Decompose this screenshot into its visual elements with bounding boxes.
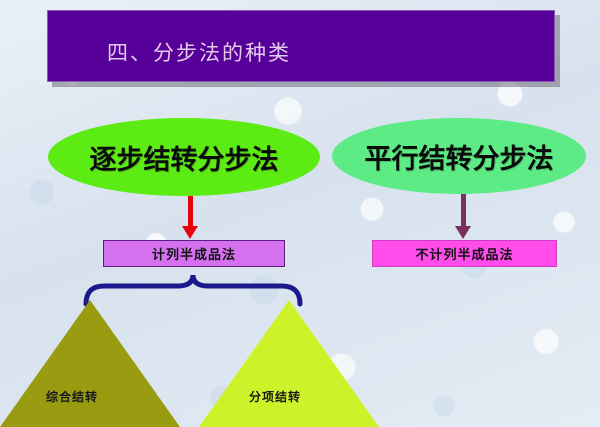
- node-step-by-step-method: 逐步结转分步法: [48, 118, 320, 196]
- slide-canvas: 四、分步法的种类 逐步结转分步法 平行结转分步法 计列半成品法 不计列半成品法 …: [0, 0, 600, 427]
- node-parallel-method: 平行结转分步法: [332, 118, 586, 194]
- arrow-down-right-icon: [455, 226, 471, 239]
- node-step-by-step-label: 逐步结转分步法: [90, 138, 279, 177]
- triangle-comprehensive-transfer-label: 综合结转: [46, 388, 98, 405]
- box-semi-finished-listed-label: 计列半成品法: [152, 244, 236, 263]
- page-title: 四、分步法的种类: [107, 37, 291, 67]
- box-semi-finished-listed: 计列半成品法: [103, 240, 285, 267]
- node-parallel-label: 平行结转分步法: [365, 137, 554, 176]
- triangle-itemized-transfer: [199, 300, 379, 427]
- arrow-down-left-icon: [182, 226, 198, 239]
- box-semi-finished-not-listed: 不计列半成品法: [372, 240, 557, 267]
- arrow-down-right-shaft: [461, 194, 466, 228]
- box-semi-finished-not-listed-label: 不计列半成品法: [415, 244, 513, 263]
- triangle-comprehensive-transfer: [0, 300, 180, 427]
- triangle-itemized-transfer-label: 分项结转: [249, 388, 301, 405]
- title-box: 四、分步法的种类: [47, 10, 555, 82]
- arrow-down-left-shaft: [188, 196, 193, 228]
